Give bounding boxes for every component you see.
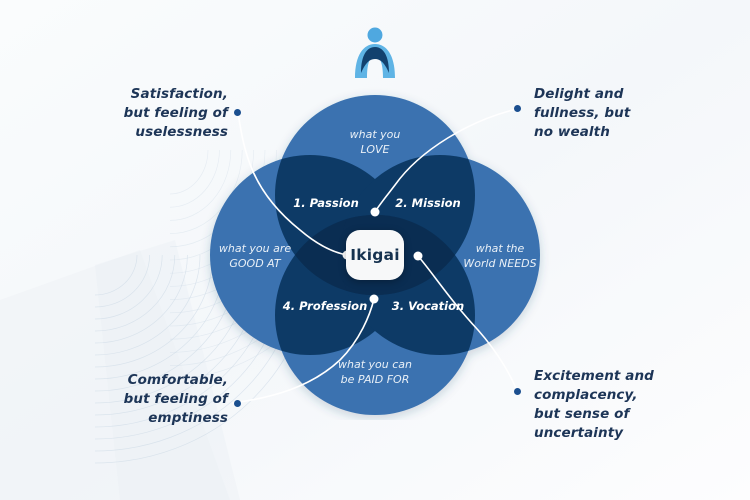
label-love-line1: what you — [350, 128, 401, 141]
logo-head-icon — [368, 28, 383, 43]
quadrant-label-profession: 4. Profession — [282, 299, 368, 313]
label-needs-line1: what the — [476, 242, 525, 255]
quadrant-label-passion: 1. Passion — [293, 196, 359, 210]
label-goodat-line1: what you are — [219, 242, 291, 255]
ikigai-center-card: Ikigai — [346, 230, 404, 280]
person-arch-logo — [352, 26, 398, 78]
bullet-top-left — [234, 109, 241, 116]
caption-top-left: Satisfaction, but feeling of uselessness — [96, 85, 228, 142]
label-love-line2: LOVE — [361, 143, 390, 156]
label-paid-line1: what you can — [338, 358, 412, 371]
caption-bottom-right: Excitement and complacency, but sense of… — [534, 367, 694, 443]
label-paid-line2: be PAID FOR — [341, 373, 410, 386]
quadrant-label-mission: 2. Mission — [395, 196, 460, 210]
caption-top-right: Delight and fullness, but no wealth — [534, 85, 684, 142]
ikigai-infographic: what you LOVE what the World NEEDS what … — [0, 0, 750, 500]
bullet-bottom-left — [234, 400, 241, 407]
label-goodat-line2: GOOD AT — [229, 257, 282, 270]
label-needs-line2: World NEEDS — [463, 257, 536, 270]
bullet-bottom-right — [514, 388, 521, 395]
bullet-top-right — [514, 105, 521, 112]
ikigai-label: Ikigai — [350, 246, 399, 264]
caption-bottom-left: Comfortable, but feeling of emptiness — [96, 371, 228, 428]
quadrant-label-vocation: 3. Vocation — [392, 299, 464, 313]
